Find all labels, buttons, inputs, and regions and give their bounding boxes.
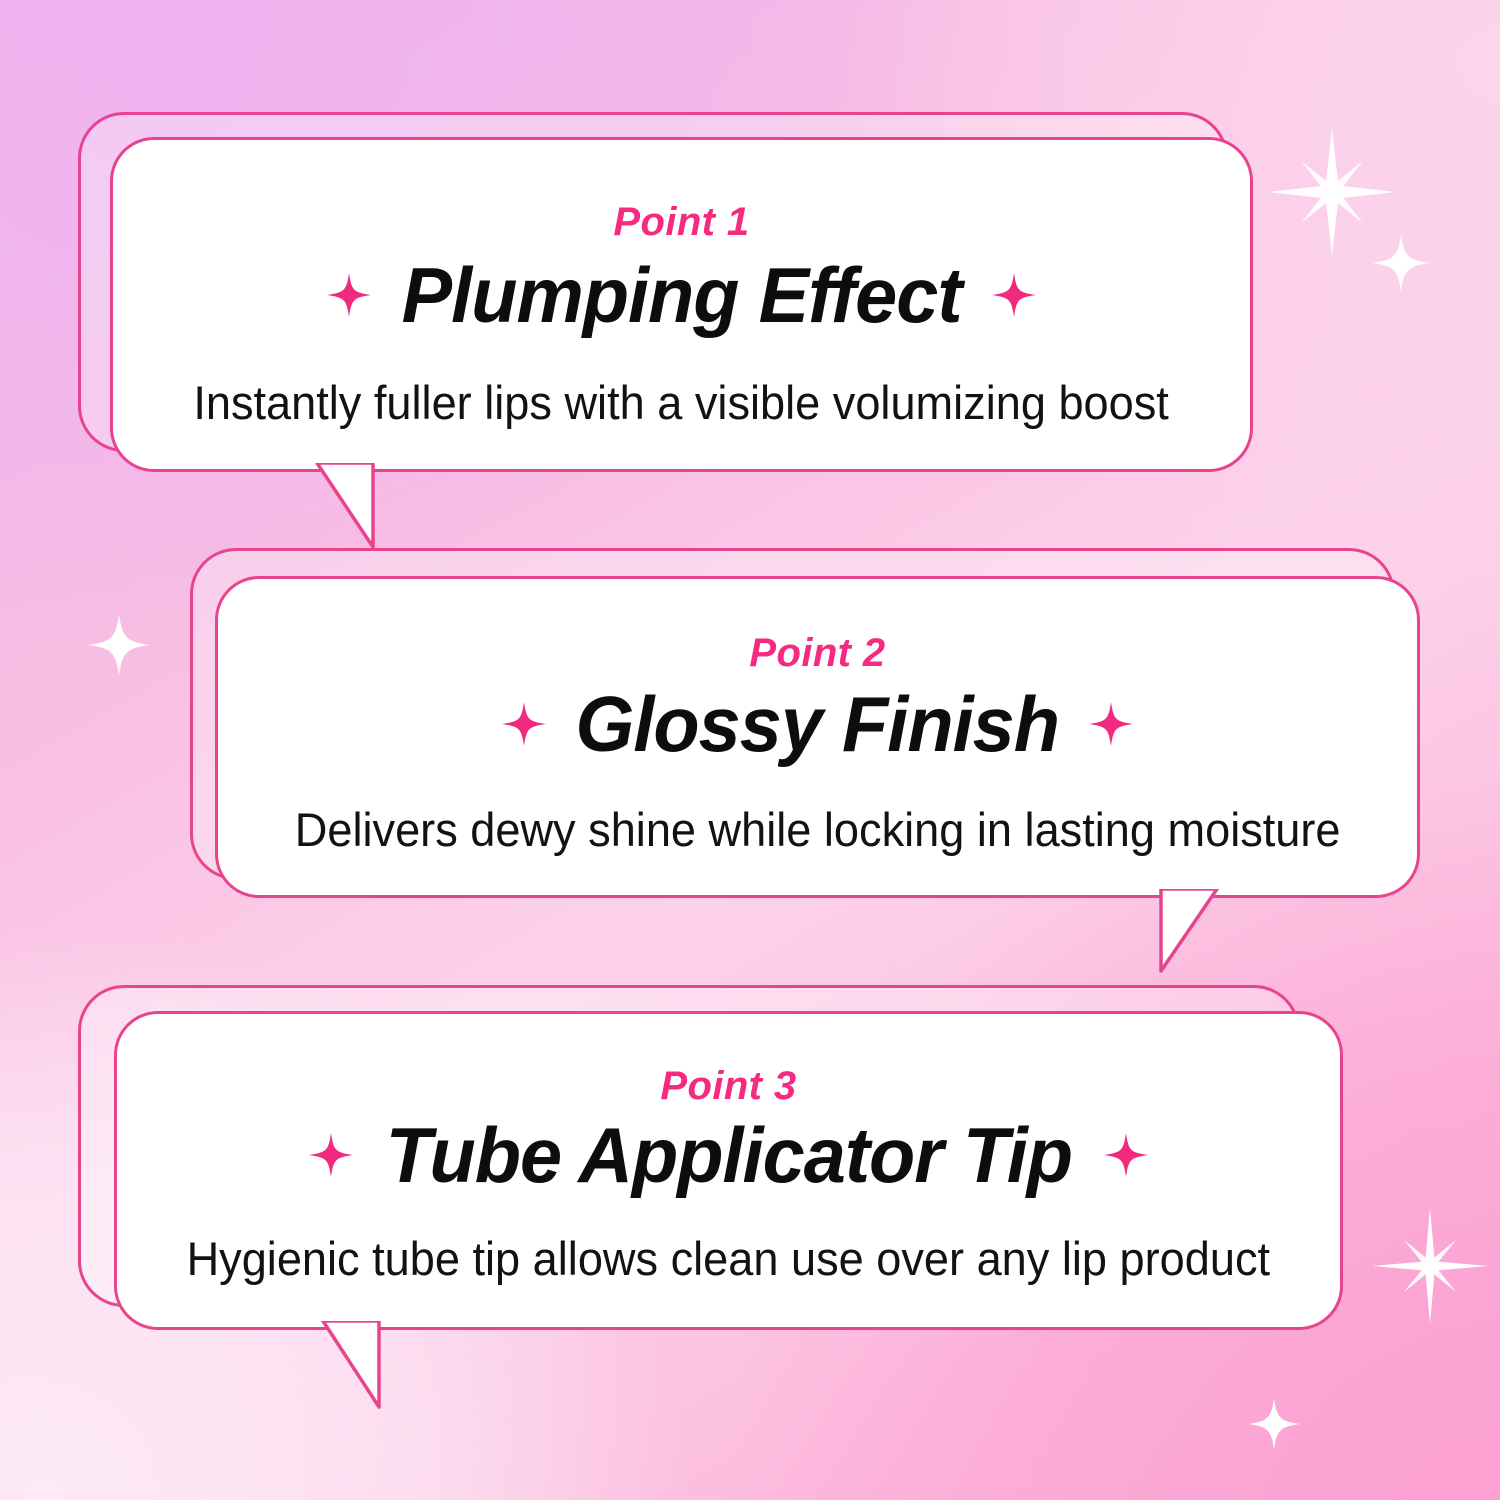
sparkle-star-icon (992, 273, 1036, 317)
card-1-description: Instantly fuller lips with a visible vol… (194, 376, 1170, 430)
card-3-description: Hygienic tube tip allows clean use over … (187, 1232, 1270, 1286)
sparkle-star-icon (327, 273, 371, 317)
card-1-body: Point 1 Plumping Effect Instantly fuller… (110, 137, 1253, 472)
sparkle-small-icon (88, 614, 150, 676)
card-1-point-label: Point 1 (613, 202, 749, 242)
card-2-title: Glossy Finish (576, 685, 1060, 763)
sparkle-star-icon (1104, 1133, 1148, 1177)
card-2-point-label: Point 2 (749, 633, 885, 673)
sparkle-small-icon (1248, 1398, 1300, 1450)
card-3-body: Point 3 Tube Applicator Tip Hygienic tub… (114, 1011, 1343, 1330)
promo-graphic-root: Point 1 Plumping Effect Instantly fuller… (0, 0, 1500, 1500)
sparkle-large-icon (1372, 1208, 1488, 1324)
feature-card-2: Point 2 Glossy Finish Delivers dewy shin… (190, 548, 1420, 898)
card-1-title-row: Plumping Effect (327, 256, 1036, 334)
card-3-point-label: Point 3 (660, 1066, 796, 1106)
feature-card-1: Point 1 Plumping Effect Instantly fuller… (78, 112, 1253, 472)
sparkle-small-icon (1372, 234, 1430, 292)
card-2-title-row: Glossy Finish (502, 685, 1132, 763)
card-2-body: Point 2 Glossy Finish Delivers dewy shin… (215, 576, 1420, 898)
card-1-title: Plumping Effect (402, 256, 962, 334)
card-3-title-row: Tube Applicator Tip (309, 1116, 1149, 1194)
sparkle-large-icon (1268, 128, 1396, 256)
feature-card-3: Point 3 Tube Applicator Tip Hygienic tub… (78, 985, 1343, 1330)
card-2-description: Delivers dewy shine while locking in las… (295, 803, 1341, 857)
sparkle-star-icon (1089, 702, 1133, 746)
sparkle-star-icon (309, 1133, 353, 1177)
card-3-title: Tube Applicator Tip (385, 1116, 1071, 1194)
card-3-tail (267, 1321, 387, 1409)
sparkle-star-icon (502, 702, 546, 746)
card-1-tail (261, 463, 381, 549)
card-2-tail (1153, 889, 1273, 973)
